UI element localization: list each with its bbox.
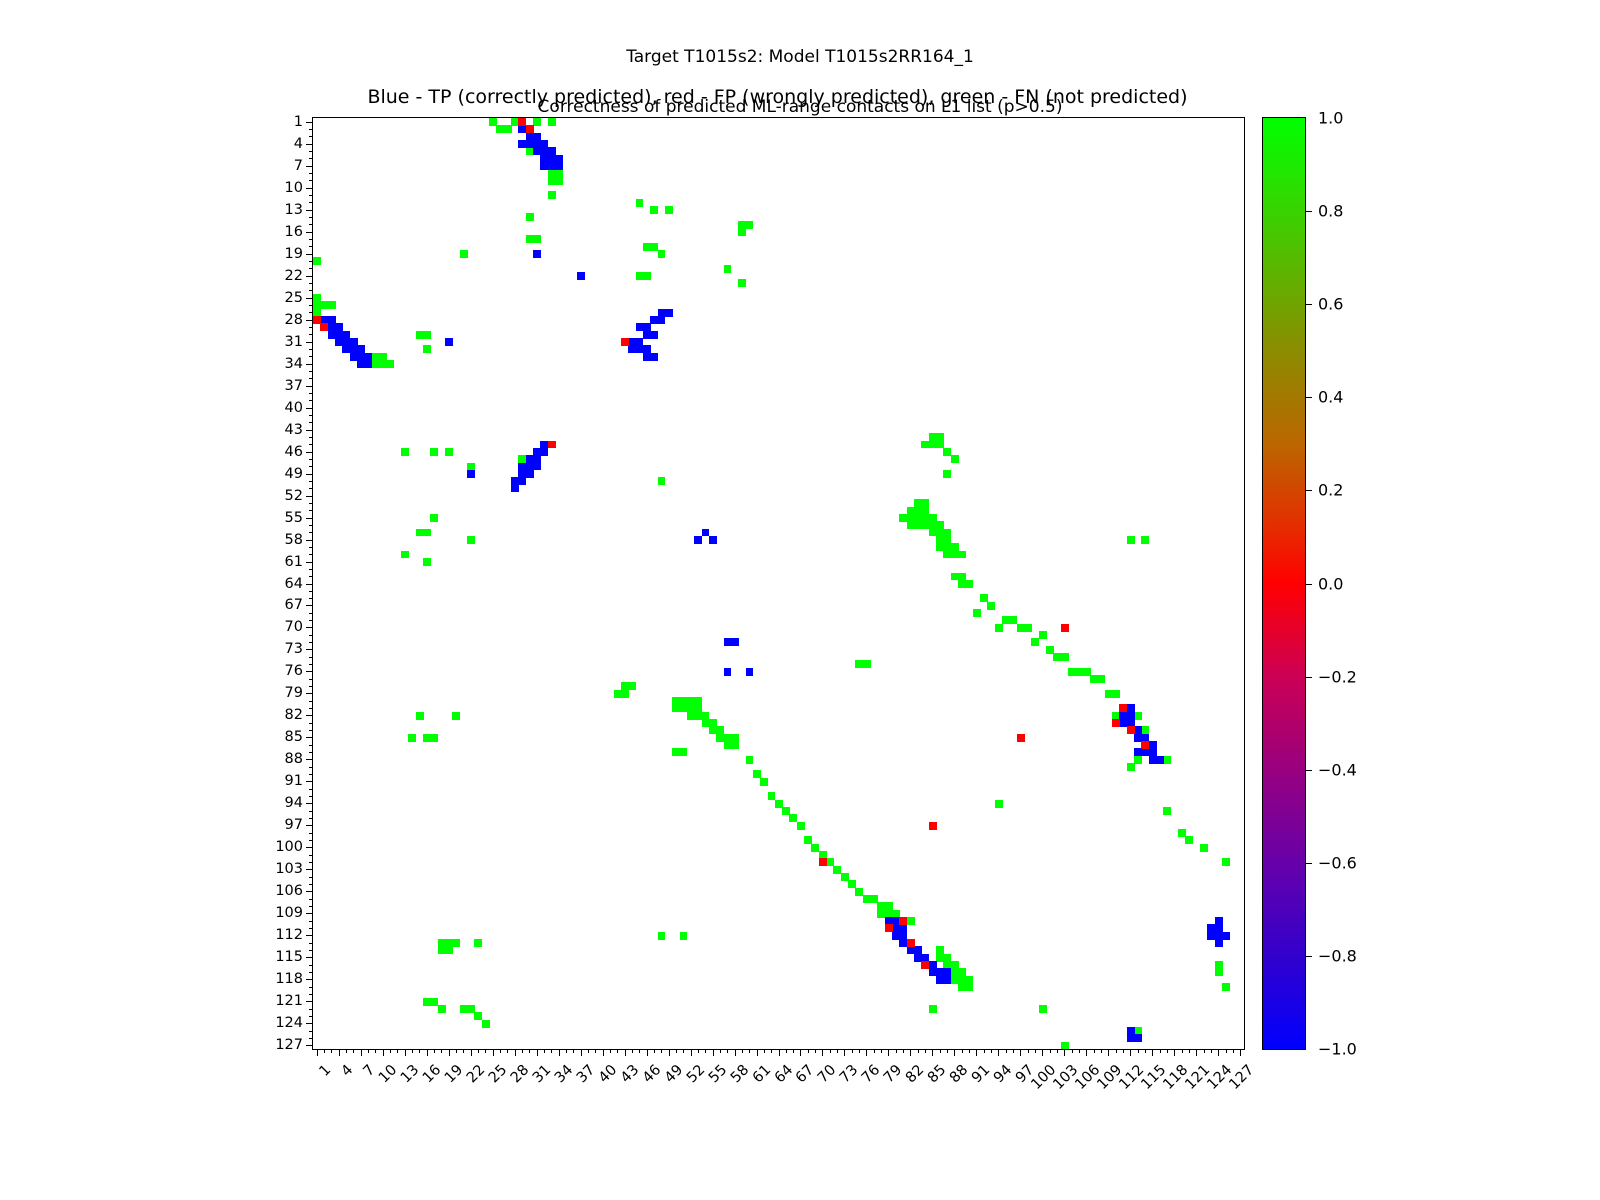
- contact-cell-fp: [929, 822, 937, 830]
- x-tick-minor: [1145, 1049, 1146, 1053]
- contact-cell-fn: [973, 609, 981, 617]
- y-tick-major: [306, 649, 313, 650]
- x-tick-minor: [1006, 1049, 1007, 1053]
- x-tick-major: [339, 1049, 340, 1056]
- x-tick-major: [910, 1049, 911, 1056]
- contact-cell-fn: [724, 265, 732, 273]
- x-tick-label: 58: [727, 1062, 751, 1086]
- y-tick-minor: [309, 613, 313, 614]
- x-tick-major: [383, 1049, 384, 1056]
- y-tick-minor: [309, 796, 313, 797]
- contact-cell-fn: [1134, 756, 1142, 764]
- contact-cell-fn: [643, 272, 651, 280]
- y-tick-major: [306, 913, 313, 914]
- x-tick-minor: [595, 1049, 596, 1053]
- x-tick-major: [1064, 1049, 1065, 1056]
- x-tick-major: [998, 1049, 999, 1056]
- x-tick-major: [449, 1049, 450, 1056]
- contact-cell-fn: [658, 477, 666, 485]
- y-tick-major: [306, 188, 313, 189]
- y-tick-label: 67: [285, 597, 303, 613]
- y-tick-label: 37: [285, 378, 303, 394]
- y-tick-label: 64: [285, 576, 303, 592]
- contact-cell-fn: [401, 448, 409, 456]
- x-tick-label: 49: [661, 1062, 685, 1086]
- x-tick-minor: [478, 1049, 479, 1053]
- x-tick-major: [1152, 1049, 1153, 1056]
- y-tick-minor: [309, 657, 313, 658]
- y-tick-minor: [309, 180, 313, 181]
- contact-cell-fn: [680, 932, 688, 940]
- contact-cell-tp: [540, 448, 548, 456]
- x-tick-major: [844, 1049, 845, 1056]
- x-tick-minor: [742, 1049, 743, 1053]
- contact-cell-fn: [1061, 653, 1069, 661]
- y-tick-minor: [309, 987, 313, 988]
- contact-cell-fn: [731, 741, 739, 749]
- y-tick-major: [306, 825, 313, 826]
- y-tick-minor: [309, 481, 313, 482]
- y-tick-label: 58: [285, 532, 303, 548]
- y-tick-minor: [309, 1031, 313, 1032]
- colorbar-tick-label: 0.8: [1318, 202, 1343, 221]
- y-tick-minor: [309, 239, 313, 240]
- contact-cell-fn: [526, 213, 534, 221]
- x-tick-minor: [918, 1049, 919, 1053]
- x-tick-label: 16: [420, 1062, 444, 1086]
- contact-cell-fn: [430, 514, 438, 522]
- x-tick-minor: [1050, 1049, 1051, 1053]
- x-tick-minor: [1189, 1049, 1190, 1053]
- y-tick-label: 82: [285, 707, 303, 723]
- x-tick-major: [537, 1049, 538, 1056]
- contact-cell-fn: [738, 279, 746, 287]
- x-tick-major: [779, 1049, 780, 1056]
- contact-cell-tp: [518, 477, 526, 485]
- contact-cell-fp: [320, 323, 328, 331]
- y-tick-minor: [309, 510, 313, 511]
- x-tick-major: [471, 1049, 472, 1056]
- x-tick-major: [757, 1049, 758, 1056]
- y-tick-minor: [309, 906, 313, 907]
- y-tick-major: [306, 803, 313, 804]
- contact-cell-fn: [929, 1005, 937, 1013]
- contact-cell-fn: [555, 177, 563, 185]
- y-tick-label: 106: [275, 883, 303, 899]
- y-tick-minor: [309, 774, 313, 775]
- x-tick-major: [691, 1049, 692, 1056]
- y-tick-minor: [309, 921, 313, 922]
- contact-cell-fn: [1141, 536, 1149, 544]
- x-tick-minor: [1211, 1049, 1212, 1053]
- contact-cell-tp: [1134, 1034, 1142, 1042]
- y-tick-major: [306, 781, 313, 782]
- y-tick-major: [306, 386, 313, 387]
- y-tick-minor: [309, 246, 313, 247]
- x-tick-minor: [1233, 1049, 1234, 1053]
- contact-cell-fn: [430, 448, 438, 456]
- x-tick-label: 10: [376, 1062, 400, 1086]
- y-tick-label: 13: [285, 202, 303, 218]
- y-tick-minor: [309, 620, 313, 621]
- contact-cell-fn: [445, 946, 453, 954]
- x-tick-minor: [346, 1049, 347, 1053]
- x-tick-minor: [962, 1049, 963, 1053]
- x-tick-minor: [324, 1049, 325, 1053]
- contact-cell-tp: [731, 638, 739, 646]
- y-tick-label: 70: [285, 619, 303, 635]
- y-tick-minor: [309, 730, 313, 731]
- contact-cell-fn: [797, 822, 805, 830]
- x-tick-major: [317, 1049, 318, 1056]
- x-tick-major: [800, 1049, 801, 1056]
- y-tick-label: 19: [285, 246, 303, 262]
- contact-cell-fn: [628, 682, 636, 690]
- contact-cell-fn: [533, 235, 541, 243]
- contact-cell-fn: [680, 748, 688, 756]
- x-tick-minor: [764, 1049, 765, 1053]
- x-tick-minor: [639, 1049, 640, 1053]
- x-tick-minor: [463, 1049, 464, 1053]
- x-tick-minor: [610, 1049, 611, 1053]
- y-tick-major: [306, 518, 313, 519]
- y-tick-minor: [309, 349, 313, 350]
- contact-cell-tp: [709, 536, 717, 544]
- x-tick-minor: [331, 1049, 332, 1053]
- x-tick-minor: [529, 1049, 530, 1053]
- colorbar-tick: [1305, 677, 1312, 678]
- y-tick-minor: [309, 547, 313, 548]
- colorbar-tick-label: 1.0: [1318, 109, 1343, 128]
- contact-cell-fn: [386, 360, 394, 368]
- contact-cell-fn: [995, 800, 1003, 808]
- x-tick-minor: [551, 1049, 552, 1053]
- colorbar[interactable]: 1.00.80.60.40.20.0−0.2−0.4−0.6−0.8−1.0: [1262, 117, 1306, 1050]
- y-tick-label: 103: [275, 861, 303, 877]
- x-tick-label: 13: [398, 1062, 422, 1086]
- x-tick-label: 127: [1227, 1062, 1258, 1093]
- y-tick-minor: [309, 1009, 313, 1010]
- x-tick-minor: [485, 1049, 486, 1053]
- y-tick-minor: [309, 994, 313, 995]
- x-tick-minor: [727, 1049, 728, 1053]
- y-tick-minor: [309, 356, 313, 357]
- y-tick-minor: [309, 371, 313, 372]
- x-tick-minor: [991, 1049, 992, 1053]
- contact-cell-fn: [401, 551, 409, 559]
- x-tick-minor: [1094, 1049, 1095, 1053]
- contact-cell-fn: [987, 602, 995, 610]
- contact-cell-tp: [724, 668, 732, 676]
- x-tick-minor: [859, 1049, 860, 1053]
- contact-cell-tp: [445, 338, 453, 346]
- y-tick-label: 109: [275, 905, 303, 921]
- colorbar-tick-label: −0.6: [1318, 853, 1357, 872]
- y-tick-major: [306, 584, 313, 585]
- x-tick-major: [493, 1049, 494, 1056]
- x-tick-major: [1042, 1049, 1043, 1056]
- contact-cell-fp: [819, 858, 827, 866]
- colorbar-tick: [1305, 863, 1312, 864]
- y-tick-major: [306, 562, 313, 563]
- x-tick-label: 61: [749, 1062, 773, 1086]
- y-tick-minor: [309, 708, 313, 709]
- contact-cell-fn: [452, 712, 460, 720]
- contact-cell-fn: [430, 734, 438, 742]
- y-tick-label: 46: [285, 444, 303, 460]
- y-tick-minor: [309, 701, 313, 702]
- contact-cell-tp: [577, 272, 585, 280]
- contact-cell-tp: [526, 470, 534, 478]
- contact-cell-fn: [1127, 536, 1135, 544]
- colorbar-tick: [1305, 397, 1312, 398]
- contact-cell-fn: [650, 206, 658, 214]
- y-tick-major: [306, 496, 313, 497]
- y-tick-major: [306, 166, 313, 167]
- x-tick-label: 40: [596, 1062, 620, 1086]
- y-tick-major: [306, 957, 313, 958]
- contact-cell-fn: [965, 580, 973, 588]
- contact-cell-fn: [438, 1005, 446, 1013]
- y-tick-minor: [309, 723, 313, 724]
- contact-cell-fn: [1031, 638, 1039, 646]
- contact-cell-fn: [1024, 624, 1032, 632]
- y-tick-minor: [309, 884, 313, 885]
- colorbar-tick: [1305, 211, 1312, 212]
- y-tick-label: 28: [285, 312, 303, 328]
- x-tick-minor: [617, 1049, 618, 1053]
- x-tick-minor: [852, 1049, 853, 1053]
- contact-cell-fn: [1039, 631, 1047, 639]
- x-tick-major: [625, 1049, 626, 1056]
- y-tick-major: [306, 474, 313, 475]
- colorbar-tick-label: 0.6: [1318, 295, 1343, 314]
- x-tick-minor: [412, 1049, 413, 1053]
- x-tick-minor: [676, 1049, 677, 1053]
- x-tick-major: [713, 1049, 714, 1056]
- x-tick-minor: [1182, 1049, 1183, 1053]
- contact-cell-fn: [746, 221, 754, 229]
- x-tick-major: [822, 1049, 823, 1056]
- x-tick-minor: [874, 1049, 875, 1053]
- x-tick-minor: [1226, 1049, 1227, 1053]
- contact-cell-fn: [907, 917, 915, 925]
- y-tick-minor: [309, 576, 313, 577]
- y-tick-major: [306, 298, 313, 299]
- contact-cell-fp: [548, 441, 556, 449]
- y-tick-minor: [309, 437, 313, 438]
- contact-cell-fn: [482, 1020, 490, 1028]
- contact-map-plot[interactable]: 1144771010131316161919222225252828313134…: [312, 117, 1245, 1050]
- contact-cell-tp: [1215, 939, 1223, 947]
- y-tick-minor: [309, 789, 313, 790]
- contact-cell-fp: [1119, 704, 1127, 712]
- x-tick-major: [1086, 1049, 1087, 1056]
- x-tick-minor: [456, 1049, 457, 1053]
- contact-cell-fp: [907, 939, 915, 947]
- x-tick-major: [1240, 1049, 1241, 1056]
- contact-cell-fp: [621, 338, 629, 346]
- y-tick-major: [306, 342, 313, 343]
- y-tick-label: 124: [275, 1015, 303, 1031]
- y-tick-major: [306, 737, 313, 738]
- contact-cell-fn: [1163, 756, 1171, 764]
- contact-cell-fn: [951, 455, 959, 463]
- colorbar-tick: [1305, 956, 1312, 957]
- contact-cell-tp: [533, 250, 541, 258]
- y-tick-minor: [309, 488, 313, 489]
- axes-title: Blue - TP (correctly predicted), red - F…: [312, 86, 1243, 108]
- y-tick-minor: [309, 840, 313, 841]
- x-tick-label: 31: [530, 1062, 554, 1086]
- contact-cell-fn: [760, 778, 768, 786]
- y-tick-minor: [309, 290, 313, 291]
- x-tick-minor: [434, 1049, 435, 1053]
- x-tick-minor: [749, 1049, 750, 1053]
- y-tick-major: [306, 210, 313, 211]
- y-tick-minor: [309, 202, 313, 203]
- y-tick-major: [306, 979, 313, 980]
- x-tick-minor: [947, 1049, 948, 1053]
- y-tick-major: [306, 891, 313, 892]
- contact-cell-tp: [555, 162, 563, 170]
- contact-cell-fn: [958, 551, 966, 559]
- x-tick-label: 34: [552, 1062, 576, 1086]
- y-tick-minor: [309, 569, 313, 570]
- contact-cell-fn: [474, 939, 482, 947]
- colorbar-tick: [1305, 584, 1312, 585]
- contact-cell-tp: [467, 470, 475, 478]
- x-tick-minor: [522, 1049, 523, 1053]
- y-tick-minor: [309, 158, 313, 159]
- x-tick-minor: [632, 1049, 633, 1053]
- y-tick-minor: [309, 833, 313, 834]
- y-tick-label: 52: [285, 488, 303, 504]
- x-tick-label: 7: [360, 1062, 378, 1080]
- contact-cell-fn: [408, 734, 416, 742]
- contact-cell-fn: [636, 199, 644, 207]
- y-tick-minor: [309, 503, 313, 504]
- contact-cell-fp: [526, 125, 534, 133]
- y-tick-major: [306, 408, 313, 409]
- contact-cell-fn: [665, 206, 673, 214]
- y-tick-minor: [309, 305, 313, 306]
- y-tick-major: [306, 759, 313, 760]
- contact-cell-fp: [1061, 624, 1069, 632]
- y-tick-minor: [309, 466, 313, 467]
- x-tick-minor: [419, 1049, 420, 1053]
- contact-cell-fn: [445, 448, 453, 456]
- y-tick-minor: [309, 378, 313, 379]
- x-tick-label: 46: [639, 1062, 663, 1086]
- contact-cell-fn: [995, 624, 1003, 632]
- y-tick-label: 1: [294, 114, 303, 130]
- x-tick-minor: [390, 1049, 391, 1053]
- y-tick-label: 25: [285, 290, 303, 306]
- y-tick-minor: [309, 943, 313, 944]
- contact-cell-fp: [885, 924, 893, 932]
- x-tick-minor: [1079, 1049, 1080, 1053]
- y-tick-major: [306, 1023, 313, 1024]
- contact-cell-fp: [1112, 719, 1120, 727]
- y-tick-label: 73: [285, 641, 303, 657]
- y-tick-minor: [309, 151, 313, 152]
- y-tick-minor: [309, 598, 313, 599]
- contact-cell-fp: [1017, 734, 1025, 742]
- contact-cell-tp: [364, 360, 372, 368]
- y-tick-minor: [309, 312, 313, 313]
- y-tick-major: [306, 364, 313, 365]
- contact-cell-tp: [650, 331, 658, 339]
- y-tick-minor: [309, 877, 313, 878]
- y-tick-minor: [309, 261, 313, 262]
- x-tick-minor: [698, 1049, 699, 1053]
- y-tick-minor: [309, 862, 313, 863]
- x-tick-label: 1: [316, 1062, 334, 1080]
- x-tick-major: [361, 1049, 362, 1056]
- contact-cell-fn: [965, 983, 973, 991]
- contact-cell-tp: [943, 976, 951, 984]
- y-tick-minor: [309, 195, 313, 196]
- x-tick-minor: [793, 1049, 794, 1053]
- x-tick-major: [888, 1049, 889, 1056]
- contact-cell-tp: [746, 668, 754, 676]
- y-tick-minor: [309, 136, 313, 137]
- y-tick-minor: [309, 393, 313, 394]
- contact-cell-fn: [452, 939, 460, 947]
- y-tick-minor: [309, 664, 313, 665]
- contact-cell-fn: [423, 529, 431, 537]
- x-tick-major: [647, 1049, 648, 1056]
- contact-cell-fn: [746, 756, 754, 764]
- x-tick-minor: [375, 1049, 376, 1053]
- x-tick-minor: [1013, 1049, 1014, 1053]
- y-tick-minor: [309, 679, 313, 680]
- y-tick-minor: [309, 745, 313, 746]
- contact-cell-fn: [548, 191, 556, 199]
- y-tick-minor: [309, 899, 313, 900]
- x-tick-minor: [573, 1049, 574, 1053]
- x-tick-major: [405, 1049, 406, 1056]
- y-tick-major: [306, 715, 313, 716]
- y-tick-major: [306, 144, 313, 145]
- y-tick-label: 79: [285, 685, 303, 701]
- y-tick-minor: [309, 415, 313, 416]
- y-tick-minor: [309, 752, 313, 753]
- y-tick-label: 61: [285, 554, 303, 570]
- colorbar-tick-label: −1.0: [1318, 1040, 1357, 1059]
- y-tick-minor: [309, 129, 313, 130]
- y-tick-major: [306, 430, 313, 431]
- y-tick-minor: [309, 928, 313, 929]
- x-tick-minor: [1123, 1049, 1124, 1053]
- y-tick-major: [306, 320, 313, 321]
- x-tick-minor: [683, 1049, 684, 1053]
- x-tick-minor: [654, 1049, 655, 1053]
- y-tick-major: [306, 869, 313, 870]
- x-tick-minor: [925, 1049, 926, 1053]
- contact-cell-fn: [658, 932, 666, 940]
- x-tick-minor: [984, 1049, 985, 1053]
- x-tick-major: [1196, 1049, 1197, 1056]
- x-tick-minor: [544, 1049, 545, 1053]
- contact-cell-fn: [1222, 858, 1230, 866]
- y-tick-minor: [309, 811, 313, 812]
- x-tick-minor: [566, 1049, 567, 1053]
- x-tick-minor: [1035, 1049, 1036, 1053]
- figure-root: Target T1015s2: Model T1015s2RR164_1 Cor…: [0, 0, 1600, 1200]
- y-tick-minor: [309, 635, 313, 636]
